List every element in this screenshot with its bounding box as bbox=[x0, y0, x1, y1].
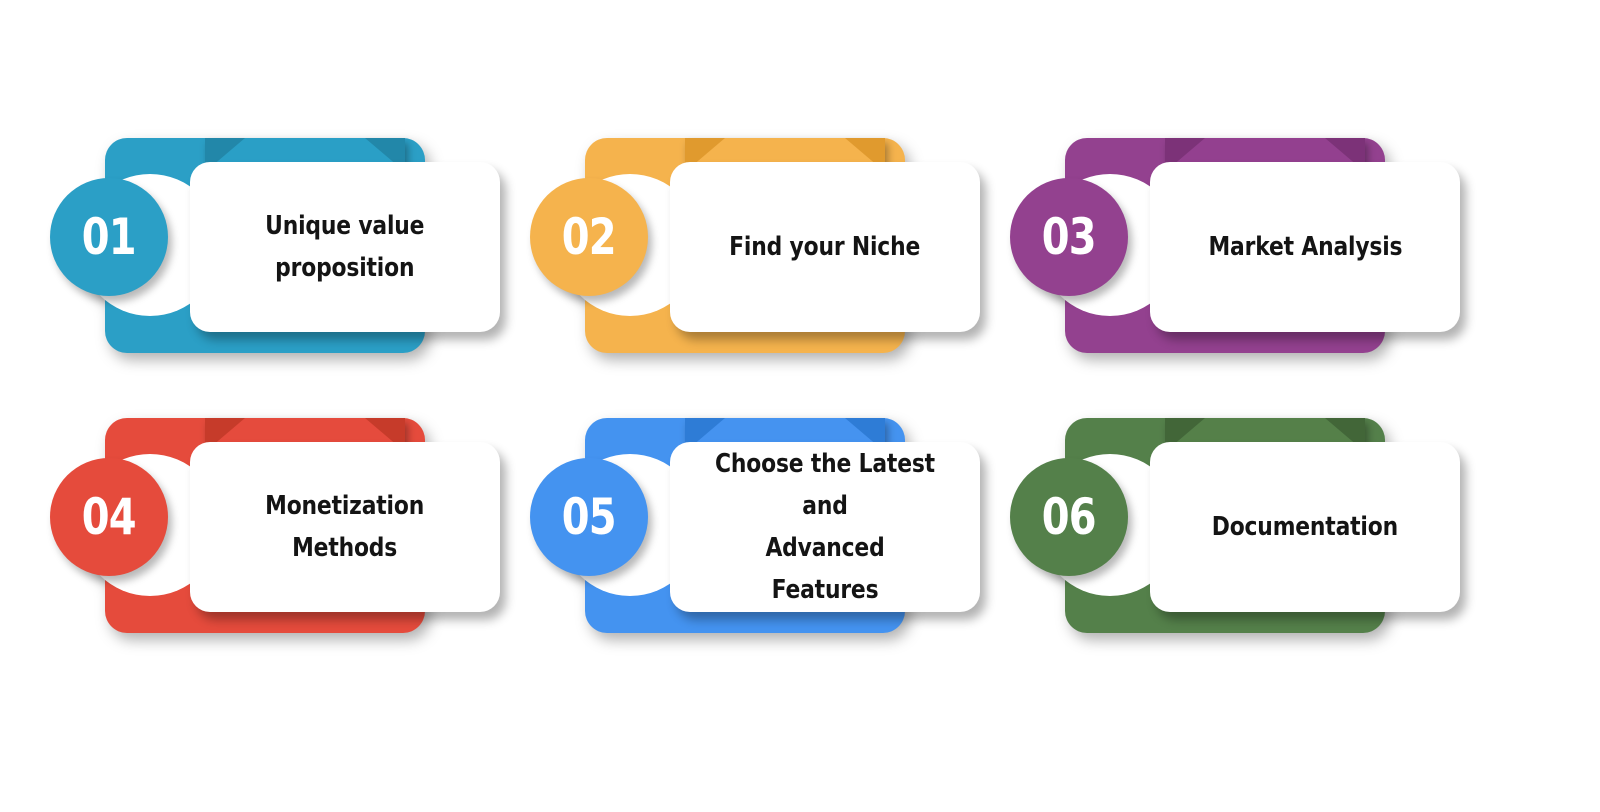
steps-grid: Unique value proposition01Find your Nich… bbox=[0, 0, 1600, 812]
step-number-label: 06 bbox=[1042, 492, 1096, 542]
step-number-badge[interactable]: 06 bbox=[1010, 458, 1128, 576]
step-title: Market Analysis bbox=[1208, 226, 1402, 268]
step-title: Unique value proposition bbox=[265, 205, 424, 289]
step-title: Find your Niche bbox=[730, 226, 921, 268]
step-number-badge[interactable]: 01 bbox=[50, 178, 168, 296]
step-content-panel[interactable]: Unique value proposition bbox=[190, 162, 500, 332]
step-number-badge[interactable]: 04 bbox=[50, 458, 168, 576]
step-content-panel[interactable]: Choose the Latest and Advanced Features bbox=[670, 442, 980, 612]
step-content-panel[interactable]: Documentation bbox=[1150, 442, 1460, 612]
step-card[interactable]: Choose the Latest and Advanced Features0… bbox=[540, 410, 1020, 690]
step-number-label: 02 bbox=[562, 212, 616, 262]
step-content-panel[interactable]: Monetization Methods bbox=[190, 442, 500, 612]
step-title: Monetization Methods bbox=[266, 485, 425, 569]
step-number-label: 04 bbox=[82, 492, 136, 542]
step-content-panel[interactable]: Find your Niche bbox=[670, 162, 980, 332]
step-number-badge[interactable]: 03 bbox=[1010, 178, 1128, 296]
step-number-badge[interactable]: 05 bbox=[530, 458, 648, 576]
step-number-label: 01 bbox=[82, 212, 136, 262]
step-card[interactable]: Unique value proposition01 bbox=[60, 130, 540, 410]
step-number-label: 03 bbox=[1042, 212, 1096, 262]
step-title: Documentation bbox=[1212, 506, 1398, 548]
step-card[interactable]: Monetization Methods04 bbox=[60, 410, 540, 690]
step-content-panel[interactable]: Market Analysis bbox=[1150, 162, 1460, 332]
step-card[interactable]: Find your Niche02 bbox=[540, 130, 1020, 410]
step-card[interactable]: Market Analysis03 bbox=[1020, 130, 1500, 410]
step-number-label: 05 bbox=[562, 492, 616, 542]
step-title: Choose the Latest and Advanced Features bbox=[710, 443, 940, 611]
step-number-badge[interactable]: 02 bbox=[530, 178, 648, 296]
infographic-canvas: Unique value proposition01Find your Nich… bbox=[0, 0, 1600, 812]
step-card[interactable]: Documentation06 bbox=[1020, 410, 1500, 690]
